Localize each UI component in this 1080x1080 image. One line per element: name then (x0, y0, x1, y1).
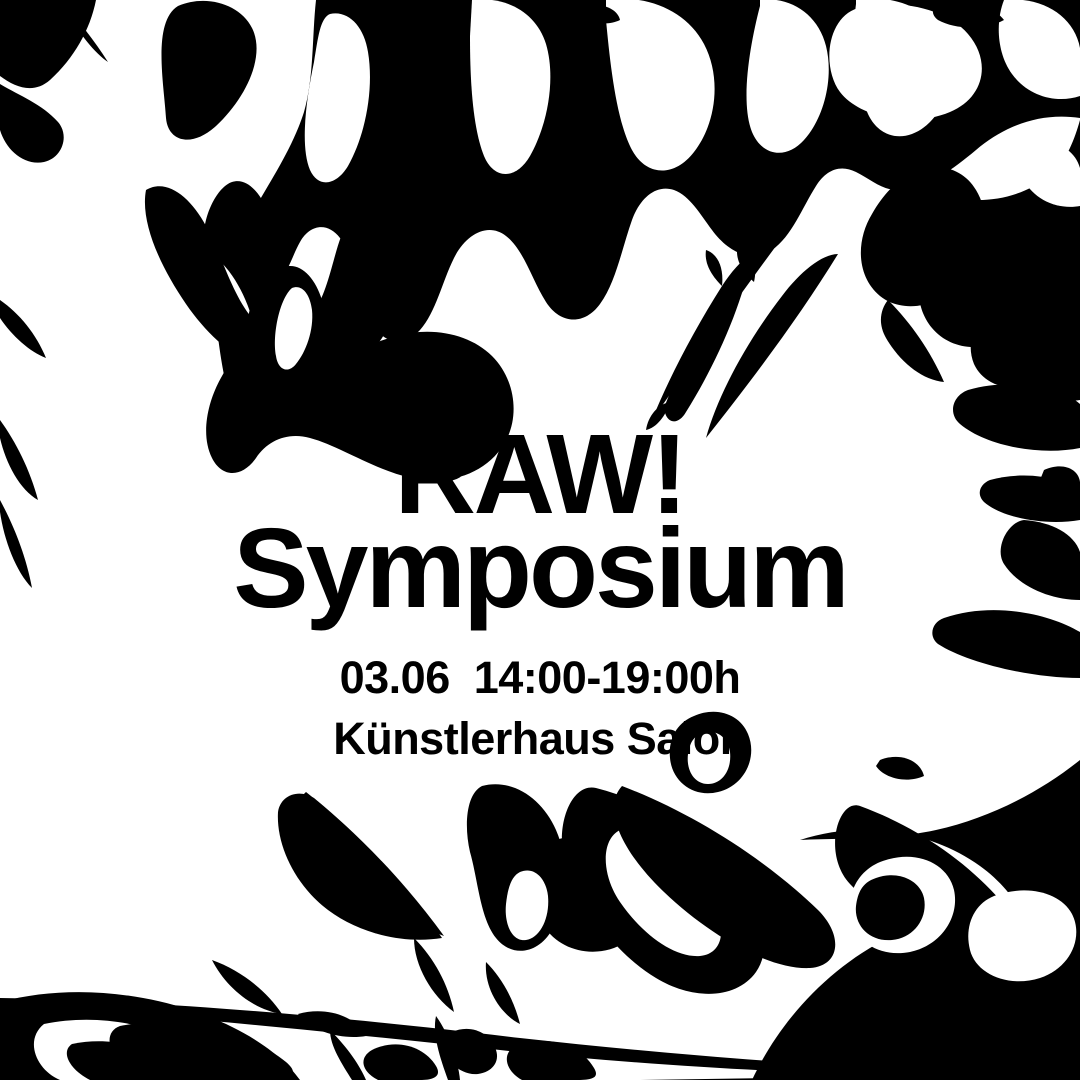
poster-canvas: RAW! Symposium 03.06 14:00-19:00h Künstl… (0, 0, 1080, 1080)
abstract-floral-artwork (0, 0, 1080, 1080)
